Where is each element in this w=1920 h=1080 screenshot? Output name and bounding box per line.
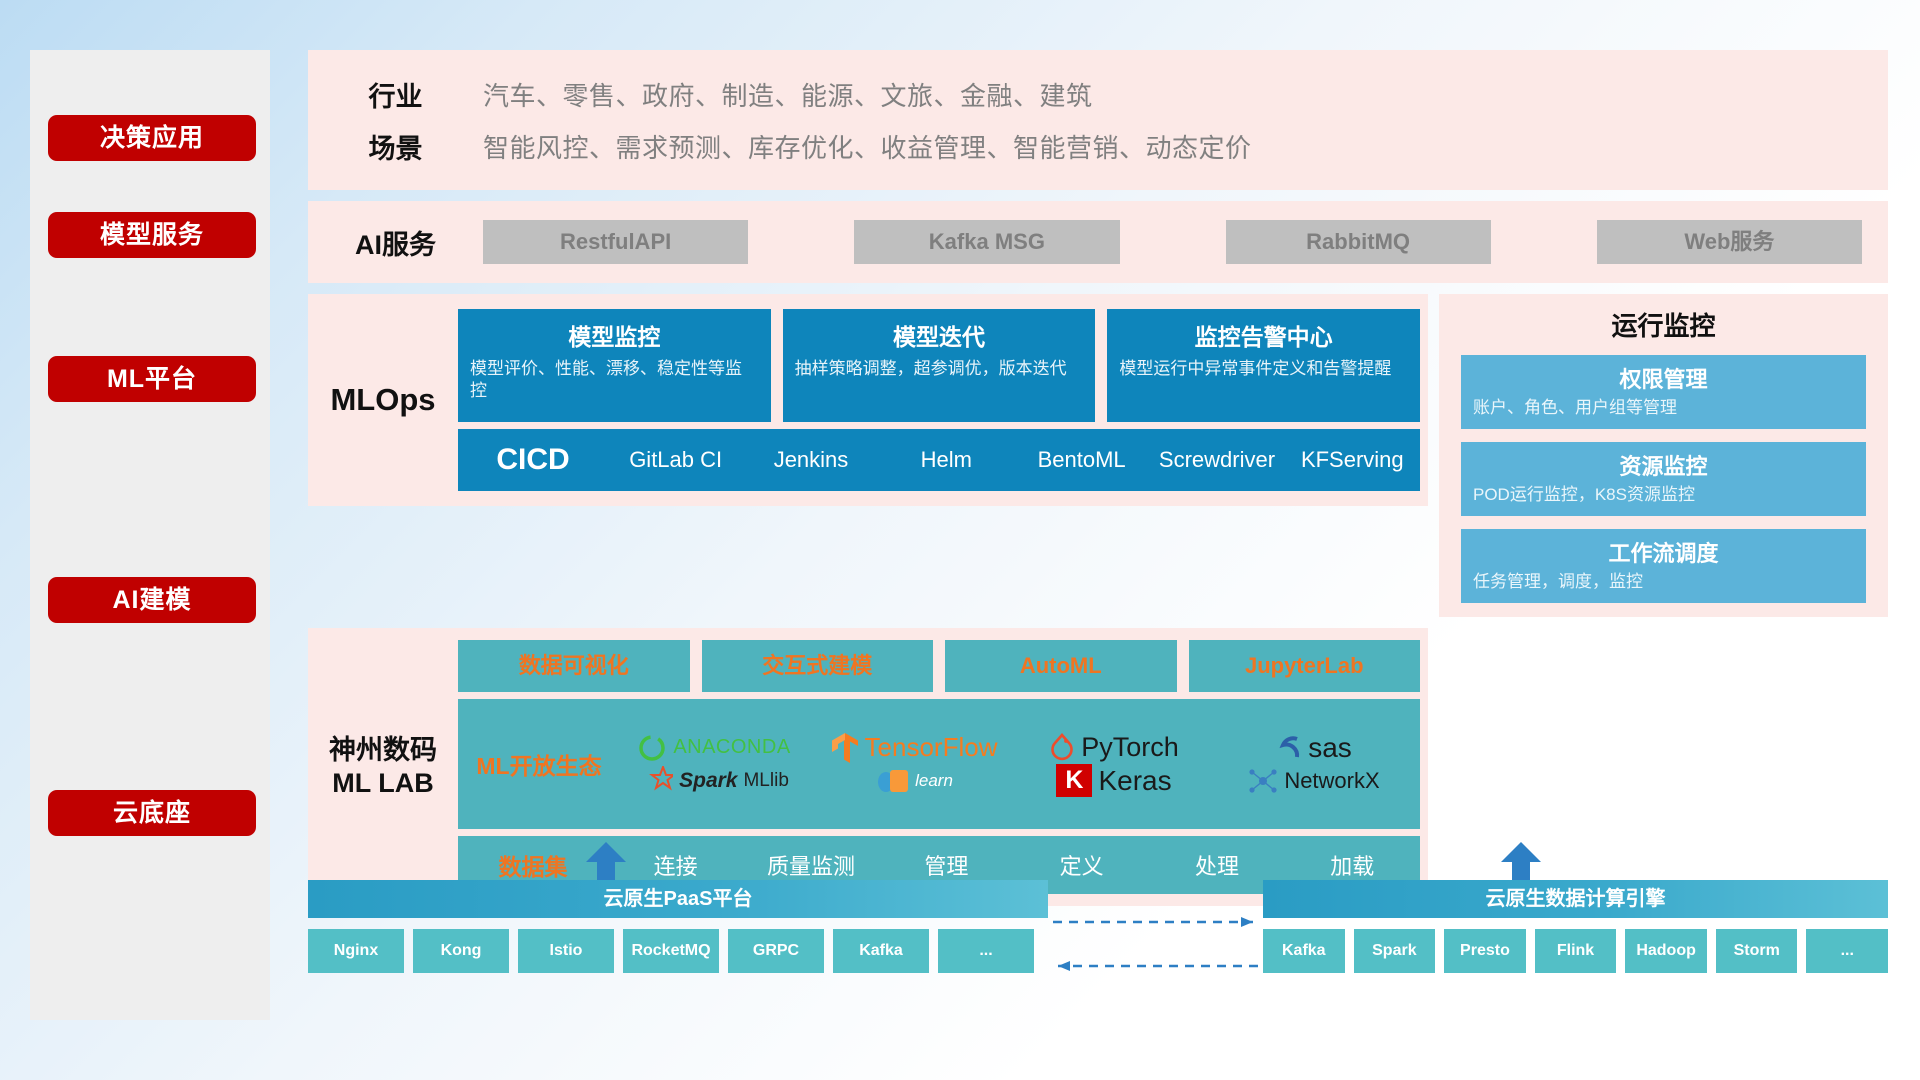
anaconda-mark-icon (637, 733, 667, 763)
scenario-label: 场景 (308, 127, 483, 166)
cicd-label: CICD (458, 443, 608, 477)
industry-label: 行业 (308, 75, 483, 114)
ai-service-chip-kafka-msg[interactable]: Kafka MSG (854, 220, 1119, 264)
keras-mark-icon: K (1056, 764, 1092, 797)
ml-lab-tool-row: 数据可视化 交互式建模 AutoML JupyterLab (458, 640, 1420, 692)
cicd-item-bentoml[interactable]: BentoML (1014, 446, 1149, 474)
compute-tag-flink[interactable]: Flink (1535, 929, 1617, 973)
tool-chip-jupyterlab[interactable]: JupyterLab (1189, 640, 1421, 692)
cloud-base-section: 云原生PaaS平台 Nginx Kong Istio RocketMQ GRPC… (308, 880, 1888, 1020)
card-title: 模型监控 (470, 318, 759, 352)
paas-header: 云原生PaaS平台 (308, 880, 1048, 918)
paas-tag-kong[interactable]: Kong (413, 929, 509, 973)
paas-tag-rocketmq[interactable]: RocketMQ (623, 929, 719, 973)
mllib-wordmark: MLlib (743, 770, 788, 792)
cicd-item-screwdriver[interactable]: Screwdriver (1149, 446, 1284, 474)
mlops-card-model-iteration[interactable]: 模型迭代 抽样策略调整，超参调优，版本迭代 (783, 309, 1096, 422)
paas-to-compute-connector (1048, 908, 1263, 978)
card-desc: 模型运行中异常事件定义和告警提醒 (1119, 358, 1408, 380)
sas-logo: sas (1276, 732, 1352, 764)
compute-engine-column: 云原生数据计算引擎 Kafka Spark Presto Flink Hadoo… (1263, 880, 1888, 973)
cicd-item-jenkins[interactable]: Jenkins (743, 446, 878, 474)
ml-lab-label-line1: 神州数码 (308, 734, 458, 768)
ai-service-chip-rabbitmq[interactable]: RabbitMQ (1226, 220, 1491, 264)
paas-tag-istio[interactable]: Istio (518, 929, 614, 973)
compute-tag-kafka[interactable]: Kafka (1263, 929, 1345, 973)
compute-tag-presto[interactable]: Presto (1444, 929, 1526, 973)
mlops-card-list: 模型监控 模型评价、性能、漂移、稳定性等监控 模型迭代 抽样策略调整，超参调优，… (458, 309, 1420, 422)
sidebar-item-ml-platform[interactable]: ML平台 (48, 356, 256, 402)
sas-mark-icon (1276, 733, 1302, 763)
compute-tag-more[interactable]: ... (1806, 929, 1888, 973)
pytorch-flame-icon (1049, 733, 1075, 763)
paas-column: 云原生PaaS平台 Nginx Kong Istio RocketMQ GRPC… (308, 880, 1048, 973)
cicd-bar: CICD GitLab CI Jenkins Helm BentoML Scre… (458, 429, 1420, 491)
scikit-learn-logo: learn (875, 766, 953, 796)
sidebar-item-ai-modeling[interactable]: AI建模 (48, 577, 256, 623)
dataset-item-load[interactable]: 加载 (1285, 849, 1420, 881)
card-desc: 抽样策略调整，超参调优，版本迭代 (795, 358, 1084, 380)
decision-apps-band: 行业 汽车、零售、政府、制造、能源、文旅、金融、建筑 场景 智能风控、需求预测、… (308, 50, 1888, 190)
card-title: 权限管理 (1473, 362, 1854, 394)
runtime-monitor-title: 运行监控 (1461, 306, 1866, 343)
cicd-item-gitlab-ci[interactable]: GitLab CI (608, 446, 743, 474)
cicd-item-list: GitLab CI Jenkins Helm BentoML Screwdriv… (608, 446, 1420, 474)
tensorflow-mark-icon (831, 732, 859, 764)
ml-lab-label-line2: ML LAB (308, 767, 458, 801)
card-desc: POD运行监控，K8S资源监控 (1473, 484, 1854, 506)
spark-star-icon (639, 766, 673, 796)
pytorch-logo: PyTorch (1049, 732, 1179, 763)
paas-tag-list: Nginx Kong Istio RocketMQ GRPC Kafka ... (308, 929, 1048, 973)
ai-service-label: AI服务 (308, 223, 483, 262)
rail-slot-3: AI建模 (48, 577, 256, 623)
mlops-stack: 模型监控 模型评价、性能、漂移、稳定性等监控 模型迭代 抽样策略调整，超参调优，… (458, 309, 1428, 491)
mlops-card-model-monitoring[interactable]: 模型监控 模型评价、性能、漂移、稳定性等监控 (458, 309, 771, 422)
scenario-row: 场景 智能风控、需求预测、库存优化、收益管理、智能营销、动态定价 (308, 120, 1888, 172)
sidebar-item-decision-apps[interactable]: 决策应用 (48, 115, 256, 161)
ml-platform-row: MLOps 模型监控 模型评价、性能、漂移、稳定性等监控 模型迭代 抽样策略调整… (308, 294, 1888, 617)
runtime-monitor-panel: 运行监控 权限管理 账户、角色、用户组等管理 资源监控 POD运行监控，K8S资… (1439, 294, 1888, 617)
ai-service-chip-web[interactable]: Web服务 (1597, 220, 1862, 264)
tool-chip-automl[interactable]: AutoML (945, 640, 1177, 692)
tensorflow-wordmark: TensorFlow (865, 732, 998, 763)
ml-lab-label: 神州数码 ML LAB (308, 734, 458, 802)
compute-tag-hadoop[interactable]: Hadoop (1625, 929, 1707, 973)
compute-tag-list: Kafka Spark Presto Flink Hadoop Storm ..… (1263, 929, 1888, 973)
keras-logo: K Keras (1056, 764, 1171, 797)
sidebar-item-model-service[interactable]: 模型服务 (48, 212, 256, 258)
scikit-learn-wordmark: learn (915, 771, 953, 791)
monitor-card-permission[interactable]: 权限管理 账户、角色、用户组等管理 (1461, 355, 1866, 429)
rail-slot-0: 决策应用 (48, 115, 256, 161)
card-desc: 任务管理，调度，监控 (1473, 571, 1854, 593)
tool-chip-data-visualization[interactable]: 数据可视化 (458, 640, 690, 692)
card-title: 工作流调度 (1473, 536, 1854, 568)
card-title: 监控告警中心 (1119, 318, 1408, 352)
ml-lab-band: 神州数码 ML LAB 数据可视化 交互式建模 AutoML JupyterLa… (308, 628, 1428, 906)
scikit-blob-icon (875, 766, 909, 796)
ai-service-chip-restfulapi[interactable]: RestfulAPI (483, 220, 748, 264)
rail-slot-2: ML平台 (48, 356, 256, 402)
industry-row: 行业 汽车、零售、政府、制造、能源、文旅、金融、建筑 (308, 68, 1888, 120)
compute-tag-storm[interactable]: Storm (1716, 929, 1798, 973)
paas-tag-more[interactable]: ... (938, 929, 1034, 973)
paas-tag-nginx[interactable]: Nginx (308, 929, 404, 973)
spark-wordmark: Spark (679, 769, 737, 793)
tool-chip-interactive-modeling[interactable]: 交互式建模 (702, 640, 934, 692)
stack-layer-rail: 决策应用 模型服务 ML平台 AI建模 云底座 (30, 50, 270, 1020)
networkx-wordmark: NetworkX (1284, 768, 1379, 794)
monitor-card-resource[interactable]: 资源监控 POD运行监控，K8S资源监控 (1461, 442, 1866, 516)
rail-slot-4: 云底座 (48, 790, 256, 836)
anaconda-logo: ANACONDA (637, 733, 790, 763)
mlops-card-alert-center[interactable]: 监控告警中心 模型运行中异常事件定义和告警提醒 (1107, 309, 1420, 422)
ml-ecosystem-logo-grid: ANACONDA TensorFlow (614, 731, 1414, 797)
paas-tag-kafka[interactable]: Kafka (833, 929, 929, 973)
paas-tag-grpc[interactable]: GRPC (728, 929, 824, 973)
dataset-item-quality-monitoring[interactable]: 质量监测 (743, 849, 878, 881)
networkx-graph-icon (1248, 766, 1278, 796)
dataset-item-list: 连接 质量监测 管理 定义 处理 加载 (608, 849, 1420, 881)
scenario-values: 智能风控、需求预测、库存优化、收益管理、智能营销、动态定价 (483, 128, 1252, 165)
card-desc: 模型评价、性能、漂移、稳定性等监控 (470, 358, 759, 403)
tensorflow-logo: TensorFlow (831, 732, 998, 764)
dataset-item-process[interactable]: 处理 (1149, 849, 1284, 881)
monitor-card-workflow[interactable]: 工作流调度 任务管理，调度，监控 (1461, 529, 1866, 603)
industry-values: 汽车、零售、政府、制造、能源、文旅、金融、建筑 (483, 76, 1093, 113)
dataset-item-manage[interactable]: 管理 (879, 849, 1014, 881)
ml-ecosystem-row: ML开放生态 ANACONDA (458, 699, 1420, 829)
spark-mllib-logo: Spark MLlib (639, 766, 789, 796)
cicd-item-helm[interactable]: Helm (879, 446, 1014, 474)
anaconda-wordmark: ANACONDA (673, 736, 790, 759)
ml-ecosystem-label: ML开放生态 (464, 747, 614, 781)
dataset-item-define[interactable]: 定义 (1014, 849, 1149, 881)
networkx-logo: NetworkX (1248, 766, 1379, 796)
compute-engine-header: 云原生数据计算引擎 (1263, 880, 1888, 918)
mlops-band: MLOps 模型监控 模型评价、性能、漂移、稳定性等监控 模型迭代 抽样策略调整… (308, 294, 1428, 506)
keras-wordmark: Keras (1098, 765, 1171, 797)
card-desc: 账户、角色、用户组等管理 (1473, 397, 1854, 419)
card-title: 资源监控 (1473, 449, 1854, 481)
ai-service-band: AI服务 RestfulAPI Kafka MSG RabbitMQ Web服务 (308, 201, 1888, 283)
ai-service-chip-strip: RestfulAPI Kafka MSG RabbitMQ Web服务 (483, 220, 1888, 264)
sidebar-item-cloud-base[interactable]: 云底座 (48, 790, 256, 836)
rail-slot-1: 模型服务 (48, 212, 256, 258)
card-title: 模型迭代 (795, 318, 1084, 352)
sas-wordmark: sas (1308, 732, 1352, 764)
cicd-item-kfserving[interactable]: KFServing (1285, 446, 1420, 474)
mlops-label: MLOps (308, 382, 458, 418)
ai-modeling-row: 神州数码 ML LAB 数据可视化 交互式建模 AutoML JupyterLa… (308, 628, 1888, 906)
pytorch-wordmark: PyTorch (1081, 732, 1179, 763)
compute-tag-spark[interactable]: Spark (1354, 929, 1436, 973)
